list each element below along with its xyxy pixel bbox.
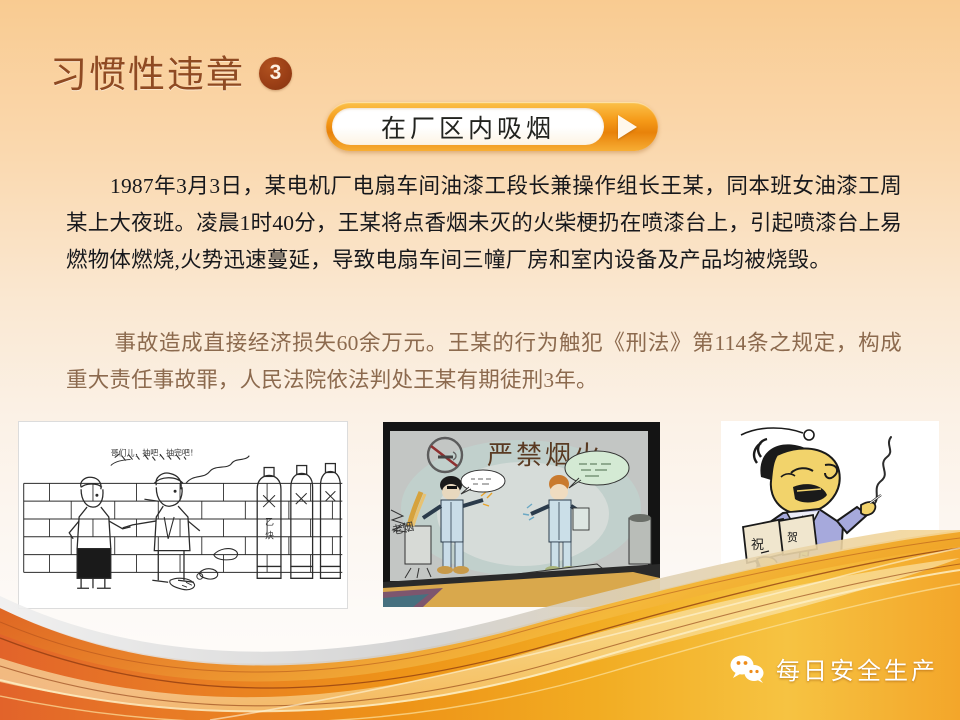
case-description-text: 1987年3月3日，某电机厂电扇车间油漆工段长兼操作组长王某，同本班女油漆工周某…	[66, 174, 902, 272]
wechat-icon	[729, 654, 765, 684]
slide-canvas: 习惯性违章 3 在厂区内吸烟 1987年3月3日，某电机厂电扇车间油漆工段长兼操…	[0, 0, 960, 720]
topic-banner: 在厂区内吸烟	[326, 102, 658, 151]
topic-banner-label: 在厂区内吸烟	[381, 109, 555, 145]
section-number-badge: 3	[259, 57, 292, 90]
slide-heading: 习惯性违章 3	[50, 44, 292, 98]
cylinder-label: 乙	[265, 517, 274, 527]
case-consequence-text: 事故造成直接经济损失60余万元。王某的行为触犯《刑法》第114条之规定，构成重大…	[66, 331, 902, 392]
decorative-wave	[0, 530, 960, 720]
topic-banner-inner: 在厂区内吸烟	[332, 108, 604, 145]
page-title: 习惯性违章	[50, 44, 245, 98]
brand-name: 每日安全生产	[776, 651, 938, 686]
play-triangle-icon	[604, 115, 658, 139]
case-description-paragraph: 1987年3月3日，某电机厂电扇车间油漆工段长兼操作组长王某，同本班女油漆工周某…	[66, 168, 902, 279]
footer-brand: 每日安全生产	[729, 651, 938, 686]
case-consequence-paragraph: 事故造成直接经济损失60余万元。王某的行为触犯《刑法》第114条之规定，构成重大…	[66, 325, 902, 399]
speech-bubble-text: 哥们儿，抽吧，抽完吧！	[111, 448, 198, 458]
